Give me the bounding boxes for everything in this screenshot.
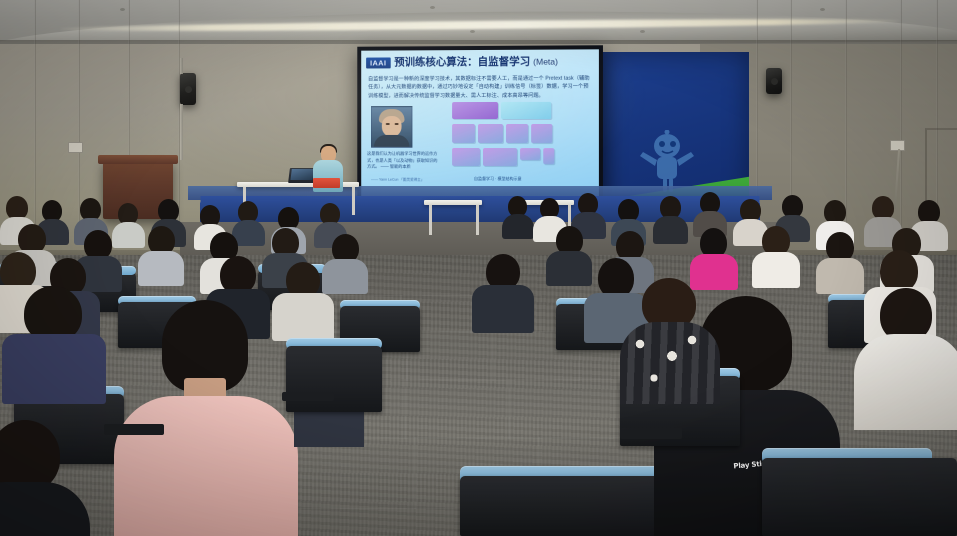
wall-panel-seam	[78, 0, 80, 232]
diagram-block	[506, 124, 528, 143]
ceiling-sprinkler	[120, 8, 125, 11]
slide-bullet-text: 自监督学习是一种新的深度学习技术，其数据标注不需要人工，而是通过一个 Prete…	[368, 75, 592, 100]
lecture-hall-photo: IAAI 预训练核心算法：自监督学习 (Meta) 自监督学习是一种新的深度学习…	[0, 0, 957, 536]
wall-panel-seam	[900, 0, 902, 232]
person-body	[112, 222, 145, 248]
ceiling-sprinkler	[640, 30, 645, 33]
person-body	[322, 259, 368, 294]
left-wall-speaker	[180, 73, 196, 105]
person-body	[2, 334, 106, 404]
diagram-block	[483, 148, 517, 166]
left-speaker-mount	[180, 58, 183, 74]
person-body	[690, 254, 738, 290]
laptop-screen	[290, 169, 313, 180]
projection-screen: IAAI 预训练核心算法：自监督学习 (Meta) 自监督学习是一种新的深度学习…	[357, 45, 603, 206]
diagram-block	[452, 102, 498, 119]
person-body	[114, 396, 298, 536]
slide-header: IAAI 预训练核心算法：自监督学习 (Meta)	[361, 53, 599, 71]
portrait-eye	[395, 123, 399, 125]
diagram-block	[478, 124, 503, 143]
person-body	[472, 285, 534, 333]
wall-panel-seam	[845, 0, 847, 232]
slide-quote-attribution: —— Yann LeCun 「图灵奖得主」	[371, 178, 424, 183]
presentation-slide: IAAI 预训练核心算法：自监督学习 (Meta) 自监督学习是一种新的深度学习…	[361, 49, 599, 202]
side-table	[424, 200, 482, 205]
diagram-block	[452, 148, 480, 166]
left-speaker-pole	[180, 104, 183, 160]
lectern-top	[98, 155, 178, 164]
seat-armrest	[620, 428, 682, 439]
ceiling-sprinkler	[430, 6, 435, 9]
carpet-tile	[290, 437, 416, 509]
portrait-face	[382, 116, 402, 137]
person-body	[752, 252, 800, 288]
diagram-block	[531, 124, 552, 143]
diagram-block	[520, 148, 540, 160]
diagram-block	[543, 148, 554, 164]
person-head	[880, 250, 918, 292]
portrait-torso	[374, 135, 409, 148]
seat-chair[interactable]	[286, 346, 382, 412]
seat-armrest	[282, 392, 334, 401]
seat-chair[interactable]	[460, 476, 660, 536]
person-body	[816, 258, 864, 294]
diagram-block	[501, 102, 551, 119]
carpet-tile	[404, 379, 510, 439]
seat-armrest	[104, 424, 164, 435]
carpet-tile	[508, 379, 614, 439]
slide-portrait-photo	[371, 106, 412, 148]
side-table-leg	[429, 205, 432, 235]
person-body	[653, 216, 688, 244]
person-body	[620, 322, 720, 404]
slide-diagram: 自监督学习 · 模型结构示意	[452, 102, 576, 187]
presenter-nameplate	[313, 178, 340, 188]
person-body	[854, 334, 957, 430]
slide-diagram-caption: 自监督学习 · 模型结构示意	[474, 176, 522, 182]
presenter-laptop	[288, 168, 316, 183]
slide-title: 预训练核心算法：自监督学习 (Meta)	[394, 57, 558, 68]
ceiling-sprinkler	[820, 8, 825, 11]
person-body	[138, 251, 184, 286]
wall-panel-seam	[34, 0, 36, 232]
head-table-leg	[352, 187, 355, 215]
person-head	[598, 258, 634, 298]
person-body	[272, 293, 334, 341]
slide-body: 自监督学习是一种新的深度学习技术，其数据标注不需要人工，而是通过一个 Prete…	[368, 75, 592, 100]
diagram-block	[452, 124, 475, 143]
ceiling-sprinkler	[470, 30, 475, 33]
slide-logo-badge: IAAI	[366, 58, 390, 69]
side-table-leg	[476, 205, 479, 235]
person-body	[546, 251, 592, 286]
slide-quote: 这是我们认为让机器学习世界的运作方式，也是人类「以及动物」获取知识的方式。 ——…	[367, 151, 440, 171]
right-wall-speaker	[766, 68, 782, 94]
wall-socket	[68, 142, 83, 153]
portrait-eye	[386, 123, 390, 125]
person-body	[502, 214, 534, 239]
seat-chair[interactable]	[762, 458, 957, 536]
